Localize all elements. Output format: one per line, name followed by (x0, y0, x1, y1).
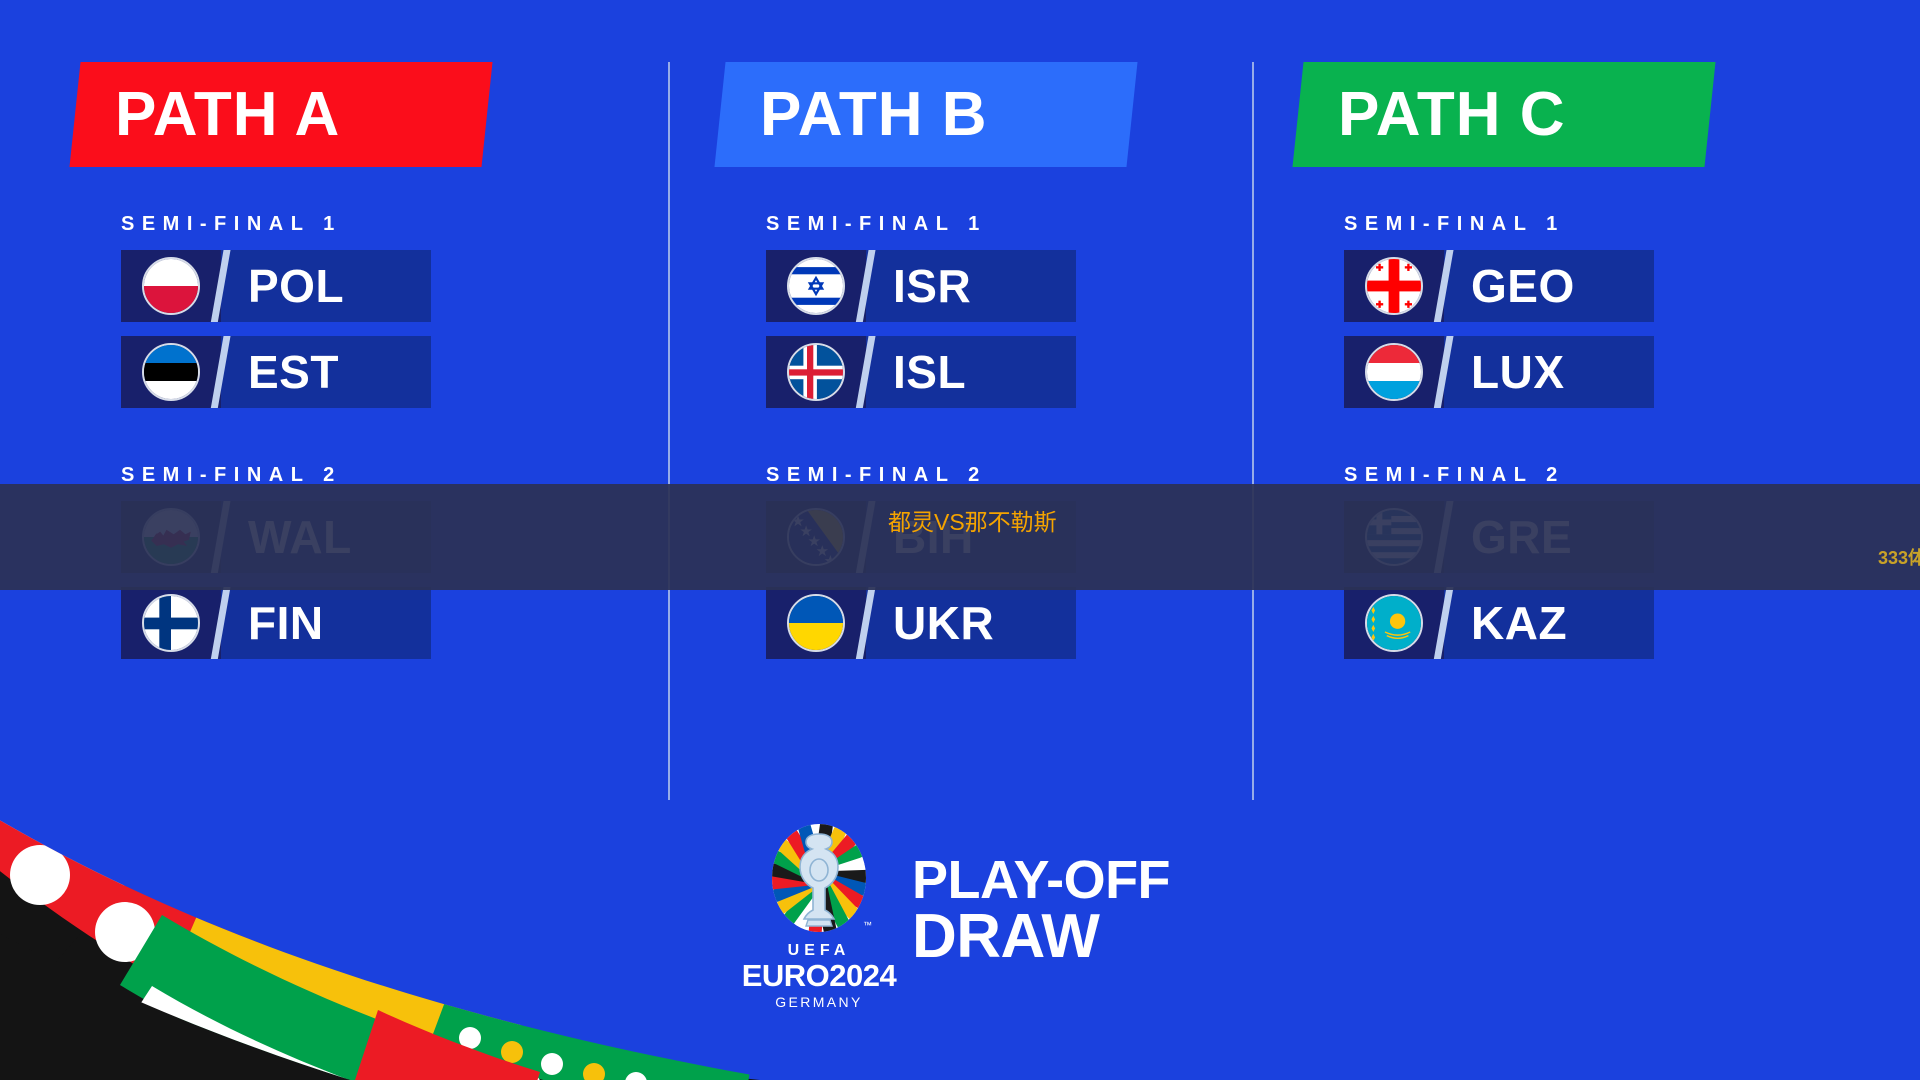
euro-ribbon-decoration (0, 780, 760, 1080)
path-a-semifinal-1-label: SEMI-FINAL 1 (121, 213, 585, 236)
team-row[interactable]: LUX (1344, 336, 1654, 408)
georgia-flag (1365, 257, 1423, 315)
team-row[interactable]: ISR (766, 250, 1076, 322)
path-column-c: PATH C SEMI-FINAL 1 GEO (1170, 0, 1755, 810)
playoff-title-line-1: PLAY-OFF (912, 854, 1170, 907)
team-row[interactable]: EST (121, 336, 431, 408)
poland-flag (142, 257, 200, 315)
team-code: ISL (893, 349, 966, 395)
team-code: POL (248, 263, 344, 309)
column-divider-1 (668, 62, 670, 800)
path-banner-c-label: PATH C (1338, 84, 1566, 146)
team-code: KAZ (1471, 600, 1567, 646)
path-banner-c: PATH C (1292, 62, 1715, 167)
team-code: GEO (1471, 263, 1575, 309)
team-code: UKR (893, 600, 994, 646)
kazakhstan-flag (1365, 594, 1423, 652)
overlay-band (0, 484, 1920, 590)
ukraine-flag (787, 594, 845, 652)
finland-flag (142, 594, 200, 652)
path-b-semifinal-1-label: SEMI-FINAL 1 (766, 213, 1170, 236)
path-c-semifinal-1-label: SEMI-FINAL 1 (1344, 213, 1755, 236)
iceland-flag (787, 343, 845, 401)
team-code: LUX (1471, 349, 1565, 395)
path-banner-b: PATH B (714, 62, 1137, 167)
estonia-flag (142, 343, 200, 401)
svg-text:™: ™ (863, 920, 872, 930)
team-row[interactable]: KAZ (1344, 587, 1654, 659)
israel-flag (787, 257, 845, 315)
overlay-watermark: 333体育 (1878, 544, 1920, 570)
team-row[interactable]: POL (121, 250, 431, 322)
team-row[interactable]: ISL (766, 336, 1076, 408)
team-row[interactable]: UKR (766, 587, 1076, 659)
germany-wordmark: GERMANY (775, 994, 863, 1010)
team-code: EST (248, 349, 339, 395)
euro-2024-logo: ™ UEFA EURO2024 GERMANY (760, 822, 878, 1010)
euro2024-wordmark: EURO2024 (742, 960, 897, 993)
luxembourg-flag (1365, 343, 1423, 401)
overlay-match-text: 都灵VS那不勒斯 (888, 503, 1057, 537)
column-divider-2 (1252, 62, 1254, 800)
path-banner-a: PATH A (69, 62, 492, 167)
team-row[interactable]: FIN (121, 587, 431, 659)
paths-container: PATH A SEMI-FINAL 1 POL EST SEMI-FINAL 2 (0, 0, 1920, 810)
team-code: FIN (248, 600, 324, 646)
playoff-draw-title: PLAY-OFF DRAW (912, 854, 1170, 978)
path-column-b: PATH B SEMI-FINAL 1 ISR (585, 0, 1170, 810)
path-banner-a-label: PATH A (115, 84, 340, 146)
footer: ™ UEFA EURO2024 GERMANY PLAY-OFF DRAW (760, 822, 1170, 1010)
playoff-title-line-2: DRAW (912, 907, 1170, 968)
euro-trophy-mark: ™ (760, 822, 878, 940)
team-row[interactable]: GEO (1344, 250, 1654, 322)
path-banner-b-label: PATH B (760, 84, 988, 146)
path-column-a: PATH A SEMI-FINAL 1 POL EST SEMI-FINAL 2 (0, 0, 585, 810)
team-code: ISR (893, 263, 971, 309)
